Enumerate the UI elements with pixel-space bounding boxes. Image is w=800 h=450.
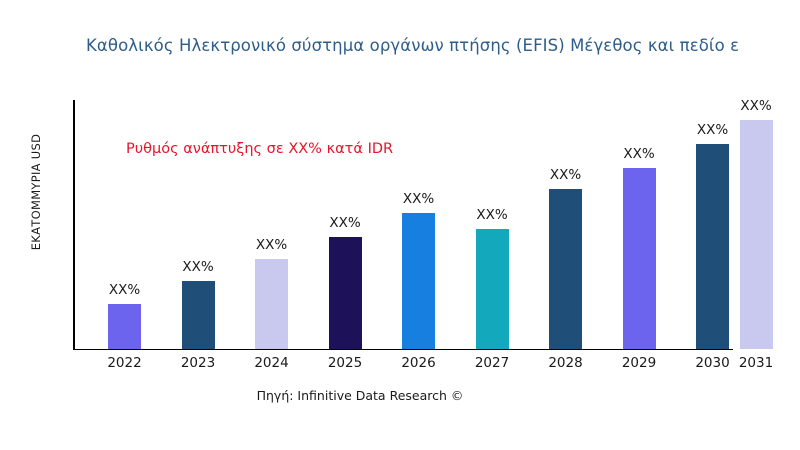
bar — [255, 259, 288, 349]
bar — [182, 281, 215, 349]
x-tick-2024: 2024 — [254, 355, 288, 371]
chart-title: Καθολικός Ηλεκτρονικό σύστημα οργάνων πτ… — [86, 36, 800, 55]
bar-value-label: XX% — [623, 146, 654, 162]
x-tick-2028: 2028 — [548, 355, 582, 371]
bar — [108, 304, 141, 349]
bar — [476, 229, 509, 349]
x-tick-2022: 2022 — [107, 355, 141, 371]
bar — [696, 144, 729, 349]
x-tick-2031: 2031 — [739, 355, 773, 371]
bar-value-label: XX% — [256, 237, 287, 253]
bar-value-label: XX% — [182, 259, 213, 275]
y-axis-line — [73, 100, 75, 350]
growth-rate-annotation: Ρυθμός ανάπτυξης σε XX% κατά IDR — [126, 141, 393, 157]
x-tick-2026: 2026 — [401, 355, 435, 371]
bar — [402, 213, 435, 349]
bar-value-label: XX% — [329, 215, 360, 231]
y-axis-label: ΕΚΑΤΟΜΜΥΡΙΑ USD — [29, 92, 43, 292]
bar-value-label: XX% — [697, 122, 728, 138]
bar — [623, 168, 656, 349]
bar-value-label: XX% — [550, 167, 581, 183]
chart-container: Καθολικός Ηλεκτρονικό σύστημα οργάνων πτ… — [0, 0, 800, 450]
bar-value-label: XX% — [403, 191, 434, 207]
bar — [329, 237, 362, 349]
bar — [740, 120, 773, 349]
bar-value-label: XX% — [109, 282, 140, 298]
x-tick-2023: 2023 — [181, 355, 215, 371]
x-tick-2029: 2029 — [622, 355, 656, 371]
x-tick-2027: 2027 — [475, 355, 509, 371]
x-tick-2025: 2025 — [328, 355, 362, 371]
bar-value-label: XX% — [476, 207, 507, 223]
bar — [549, 189, 582, 349]
bar-value-label: XX% — [740, 98, 771, 114]
source-note: Πηγή: Infinitive Data Research © — [0, 388, 720, 403]
x-tick-2030: 2030 — [695, 355, 729, 371]
